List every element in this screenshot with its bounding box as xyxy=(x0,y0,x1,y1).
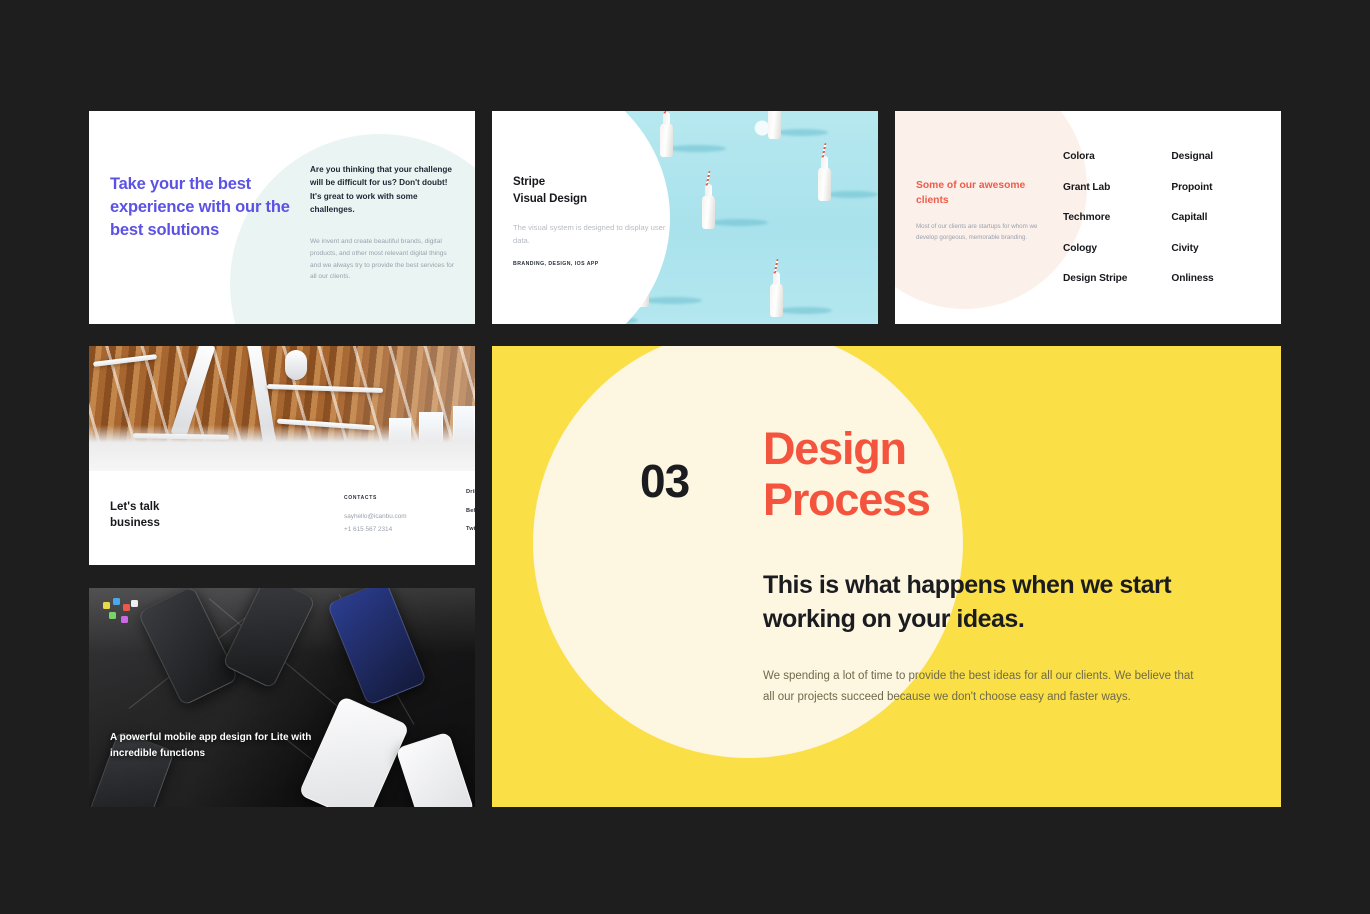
client-name: Designal xyxy=(1171,151,1213,162)
process-body-text: We spending a lot of time to provide the… xyxy=(763,666,1203,709)
slide-contact[interactable]: Let's talk business CONTACTS sayhello@ic… xyxy=(89,346,475,565)
process-title-line2: Process xyxy=(763,475,1073,526)
contact-details: CONTACTS sayhello@icanbu.com +1 615 567 … xyxy=(344,495,407,535)
contact-phone[interactable]: +1 615 567 2314 xyxy=(344,525,407,536)
client-name: Capitall xyxy=(1171,212,1213,223)
hero-body-text: We invent and create beautiful brands, d… xyxy=(310,236,455,283)
hero-heading: Take your the best experience with our t… xyxy=(110,173,290,241)
client-name: Colora xyxy=(1063,151,1127,162)
client-name: Design Stripe xyxy=(1063,273,1127,284)
office-interior-photo xyxy=(89,346,475,471)
slide-design-process[interactable]: 03 Design Process This is what happens w… xyxy=(492,346,1281,807)
contact-title-line1: Let's talk xyxy=(110,499,160,515)
hero-text-column: Are you thinking that your challenge wil… xyxy=(310,163,455,283)
slide-mobile-app[interactable]: A powerful mobile app design for Lite wi… xyxy=(89,588,475,807)
slide-hero[interactable]: Take your the best experience with our t… xyxy=(89,111,475,324)
client-name: Grant Lab xyxy=(1063,182,1127,193)
process-title-line1: Design xyxy=(763,424,1073,475)
process-subtitle: This is what happens when we start worki… xyxy=(763,568,1183,636)
social-link-twitter[interactable]: Twitter xyxy=(466,526,475,532)
client-name: Techmore xyxy=(1063,212,1127,223)
stripe-subtitle: The visual system is designed to display… xyxy=(513,222,673,247)
stripe-title-line1: Stripe xyxy=(513,174,673,191)
social-links: Dribbble Behance Twitter xyxy=(466,489,475,532)
clients-column-left: Colora Grant Lab Techmore Cology Design … xyxy=(1063,151,1127,284)
stripe-tags: BRANDING, DESIGN, IOS APP xyxy=(513,261,673,267)
clients-kicker: Some of our awesome clients xyxy=(916,179,1044,208)
stripe-text-block: Stripe Visual Design The visual system i… xyxy=(513,174,673,267)
clients-column-right: Designal Propoint Capitall Civity Online… xyxy=(1171,151,1213,284)
contact-info-panel: Let's talk business CONTACTS sayhello@ic… xyxy=(89,471,475,565)
mobile-caption: A powerful mobile app design for Lite wi… xyxy=(110,730,340,761)
client-name: Civity xyxy=(1171,243,1213,254)
slide-stripe-visual-design[interactable]: Stripe Visual Design The visual system i… xyxy=(492,111,878,324)
hero-lead-text: Are you thinking that your challenge wil… xyxy=(310,163,455,216)
contact-email[interactable]: sayhello@icanbu.com xyxy=(344,512,407,523)
client-name: Onliness xyxy=(1171,273,1213,284)
contact-title: Let's talk business xyxy=(110,499,160,532)
clients-text-column: Some of our awesome clients Most of our … xyxy=(916,179,1044,244)
section-number: 03 xyxy=(640,454,689,508)
client-name: Propoint xyxy=(1171,182,1213,193)
contact-title-line2: business xyxy=(110,515,160,531)
clients-body-text: Most of our clients are startups for who… xyxy=(916,222,1044,244)
stripe-title-line2: Visual Design xyxy=(513,191,673,208)
mobile-devices-photo: A powerful mobile app design for Lite wi… xyxy=(89,588,475,807)
presentation-showcase: Take your the best experience with our t… xyxy=(0,0,1370,914)
process-title: Design Process xyxy=(763,424,1073,526)
client-name: Cology xyxy=(1063,243,1127,254)
social-link-dribbble[interactable]: Dribbble xyxy=(466,489,475,495)
clients-list: Colora Grant Lab Techmore Cology Design … xyxy=(1063,151,1263,284)
social-link-behance[interactable]: Behance xyxy=(466,508,475,514)
slide-clients[interactable]: Some of our awesome clients Most of our … xyxy=(895,111,1281,324)
contacts-label: CONTACTS xyxy=(344,495,407,501)
